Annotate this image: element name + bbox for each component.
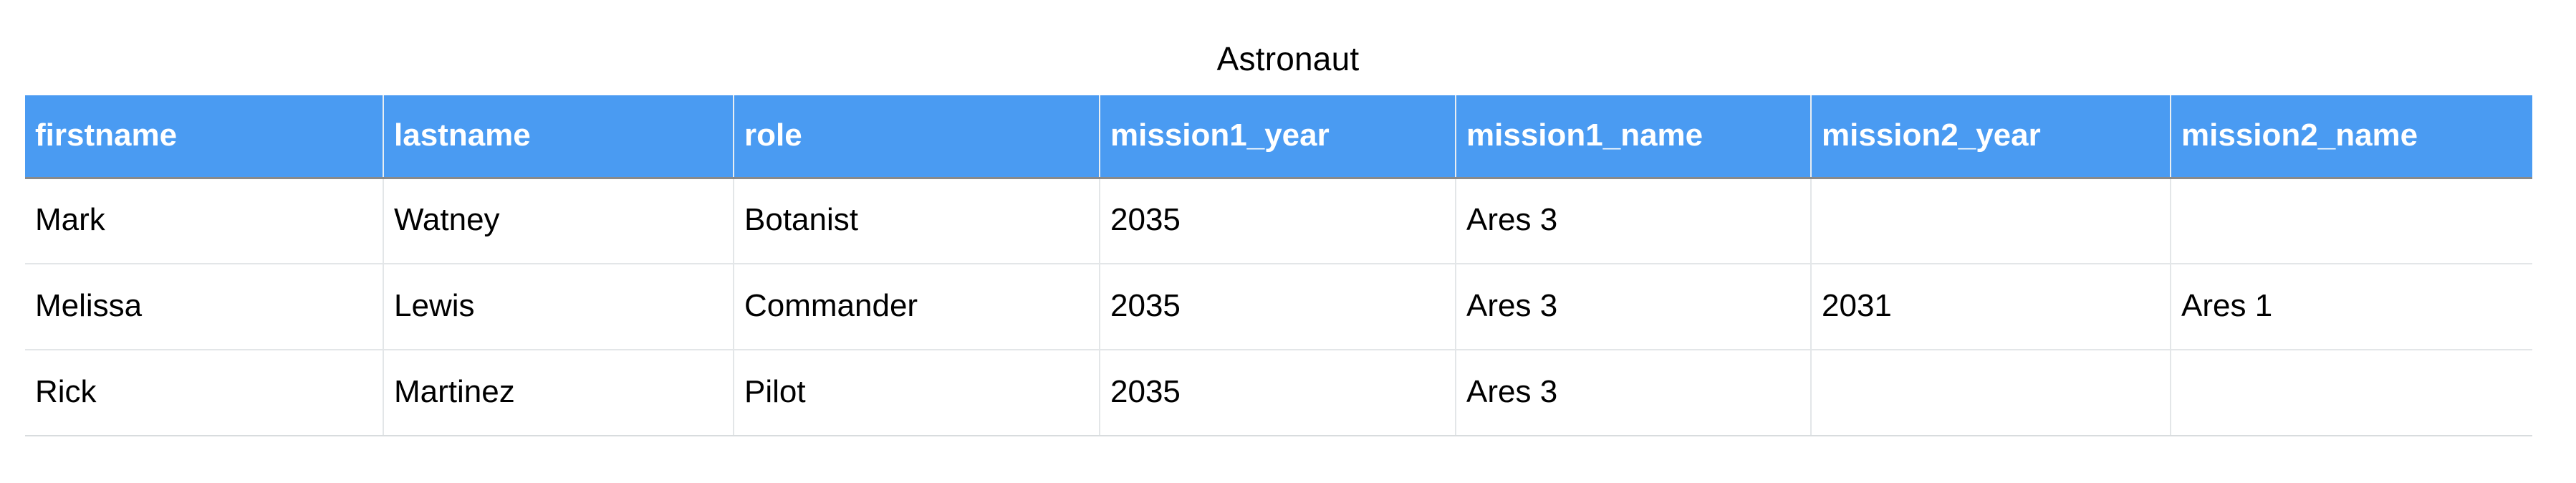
cell-mission1-year[interactable]: 2035 — [1100, 264, 1456, 350]
column-header-mission2-year[interactable]: mission2_year — [1811, 95, 2171, 178]
cell-mission1-year[interactable]: 2035 — [1100, 178, 1456, 264]
table-header: firstname lastname role mission1_year mi… — [25, 95, 2532, 178]
cell-mission2-year[interactable] — [1811, 178, 2171, 264]
cell-mission1-name[interactable]: Ares 3 — [1456, 264, 1811, 350]
cell-lastname[interactable]: Watney — [383, 178, 734, 264]
astronaut-table: firstname lastname role mission1_year mi… — [25, 95, 2532, 436]
cell-mission2-year[interactable]: 2031 — [1811, 264, 2171, 350]
cell-firstname[interactable]: Melissa — [25, 264, 383, 350]
cell-role[interactable]: Pilot — [734, 350, 1100, 436]
table-title: Astronaut — [0, 37, 2576, 80]
table-row[interactable]: Rick Martinez Pilot 2035 Ares 3 — [25, 350, 2532, 436]
column-header-mission2-name[interactable]: mission2_name — [2171, 95, 2532, 178]
cell-mission1-name[interactable]: Ares 3 — [1456, 350, 1811, 436]
table-body: Mark Watney Botanist 2035 Ares 3 Melissa… — [25, 178, 2532, 436]
astronaut-table-container: firstname lastname role mission1_year mi… — [25, 95, 2532, 436]
column-header-mission1-year[interactable]: mission1_year — [1100, 95, 1456, 178]
cell-lastname[interactable]: Lewis — [383, 264, 734, 350]
column-header-mission1-name[interactable]: mission1_name — [1456, 95, 1811, 178]
cell-mission2-year[interactable] — [1811, 350, 2171, 436]
column-header-lastname[interactable]: lastname — [383, 95, 734, 178]
cell-lastname[interactable]: Martinez — [383, 350, 734, 436]
column-header-role[interactable]: role — [734, 95, 1100, 178]
cell-firstname[interactable]: Mark — [25, 178, 383, 264]
column-header-firstname[interactable]: firstname — [25, 95, 383, 178]
cell-mission2-name[interactable] — [2171, 350, 2532, 436]
cell-firstname[interactable]: Rick — [25, 350, 383, 436]
cell-mission1-name[interactable]: Ares 3 — [1456, 178, 1811, 264]
cell-role[interactable]: Botanist — [734, 178, 1100, 264]
cell-role[interactable]: Commander — [734, 264, 1100, 350]
table-row[interactable]: Mark Watney Botanist 2035 Ares 3 — [25, 178, 2532, 264]
cell-mission1-year[interactable]: 2035 — [1100, 350, 1456, 436]
table-header-row: firstname lastname role mission1_year mi… — [25, 95, 2532, 178]
cell-mission2-name[interactable]: Ares 1 — [2171, 264, 2532, 350]
table-row[interactable]: Melissa Lewis Commander 2035 Ares 3 2031… — [25, 264, 2532, 350]
page-root: Astronaut firstname lastname role missio… — [0, 0, 2576, 483]
cell-mission2-name[interactable] — [2171, 178, 2532, 264]
